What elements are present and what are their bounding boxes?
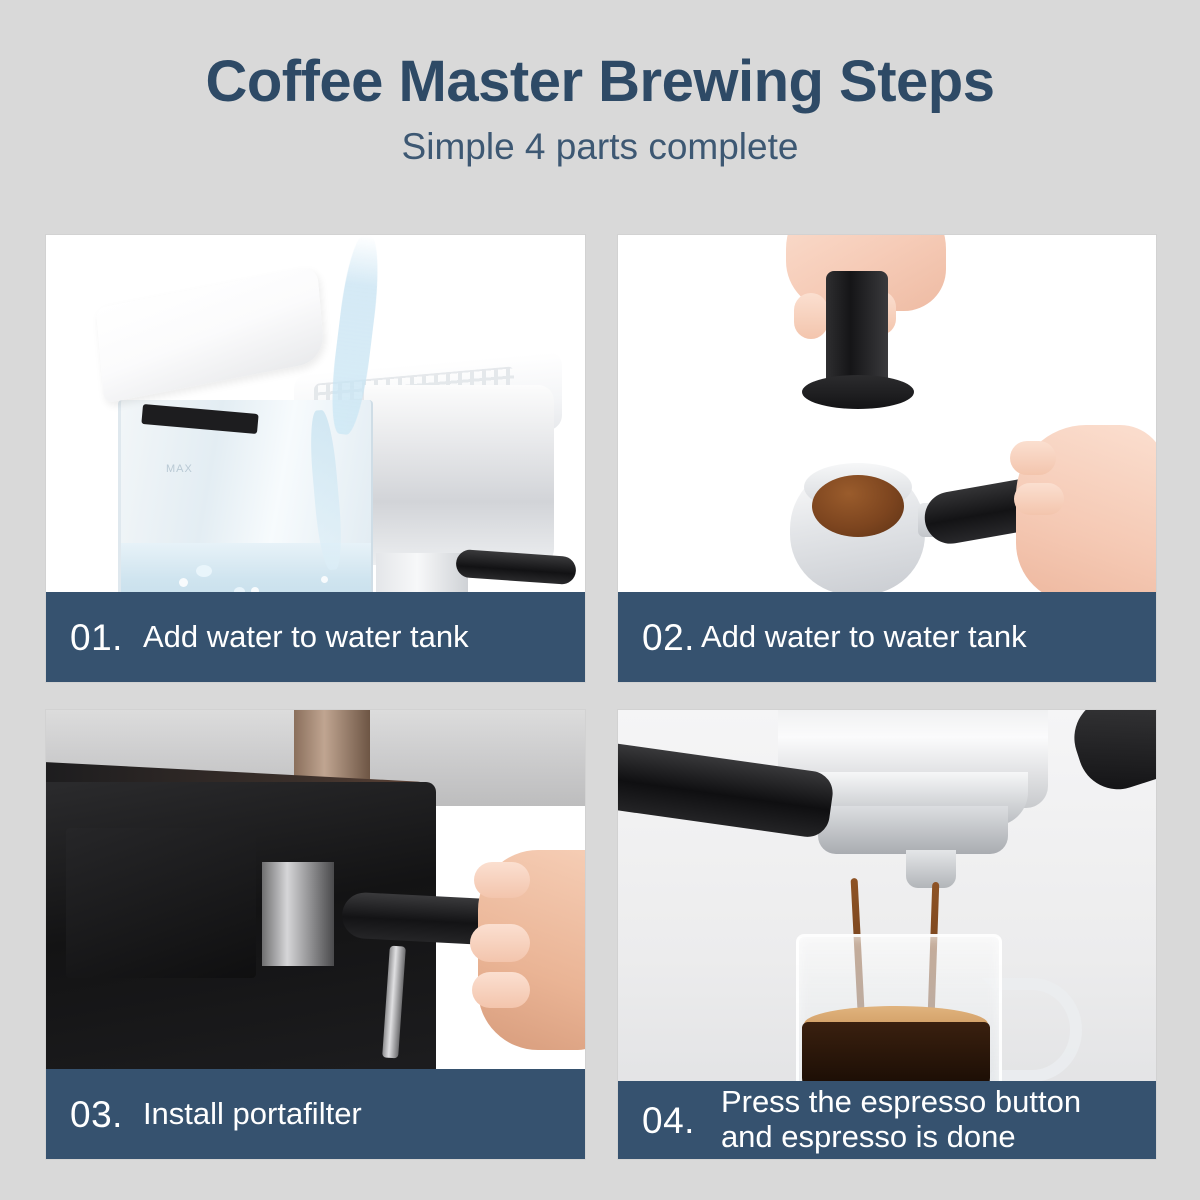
page-header: Coffee Master Brewing Steps Simple 4 par… <box>0 0 1200 168</box>
step-02-caption: 02. Add water to water tank <box>618 592 1156 682</box>
tamper-handle <box>826 271 888 383</box>
group-head <box>262 862 334 966</box>
portafilter-spout <box>906 850 956 888</box>
machine-recess <box>66 828 256 978</box>
steps-grid: MAX 01. Add water to water tank <box>46 235 1156 1159</box>
tamper-base <box>802 375 914 409</box>
step-04-label: Press the espresso button and espresso i… <box>721 1085 1156 1154</box>
step-03-caption: 03. Install portafilter <box>46 1069 585 1159</box>
page-title: Coffee Master Brewing Steps <box>0 52 1200 113</box>
step-03-label: Install portafilter <box>143 1097 585 1132</box>
step-card-02[interactable]: 02. Add water to water tank <box>618 235 1156 682</box>
step-04-number: 04. <box>642 1102 695 1139</box>
step-card-01[interactable]: MAX 01. Add water to water tank <box>46 235 585 682</box>
step-04-label-line1: Press the espresso button <box>721 1084 1081 1119</box>
step-02-number: 02. <box>642 619 695 656</box>
step-card-03[interactable]: 03. Install portafilter <box>46 710 585 1159</box>
step-04-label-line2: and espresso is done <box>721 1119 1016 1154</box>
coffee-grounds <box>812 475 904 537</box>
step-04-caption: 04. Press the espresso button and espres… <box>618 1081 1156 1159</box>
step-card-04[interactable]: 04. Press the espresso button and espres… <box>618 710 1156 1159</box>
page-subtitle: Simple 4 parts complete <box>0 127 1200 168</box>
step-01-number: 01. <box>70 619 123 656</box>
step-01-caption: 01. Add water to water tank <box>46 592 585 682</box>
portafilter-body <box>818 806 1008 854</box>
machine-body <box>364 385 554 565</box>
step-03-number: 03. <box>70 1096 123 1133</box>
step-02-label: Add water to water tank <box>701 620 1156 655</box>
tank-max-label: MAX <box>166 463 193 475</box>
step-01-label: Add water to water tank <box>143 620 585 655</box>
